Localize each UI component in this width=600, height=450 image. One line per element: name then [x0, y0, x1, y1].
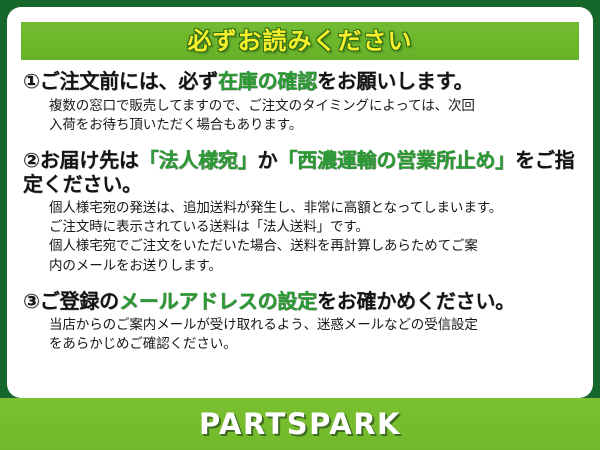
notice-heading-text: ご注文前には、必ず [40, 69, 218, 93]
notice-body-line: ご注文時に表示されている送料は「法人送料」です。 [49, 218, 577, 237]
notice-heading-text: か [258, 148, 278, 172]
notice-item-marker: ① [23, 69, 40, 93]
notice-item: ③ご登録のメールアドレスの設定をお確かめください。当店からのご案内メールが受け取… [23, 290, 577, 355]
notice-body-line: 内のメールをお送りします。 [49, 257, 577, 276]
page-title: 必ずお読みください [188, 29, 413, 53]
header-banner: 必ずお読みください [21, 22, 579, 60]
notice-item-list: ①ご注文前には、必ず在庫の確認をお願いします。複数の窓口で販売してますので、ご注… [21, 70, 579, 355]
notice-body-line: 入荷をお待ち頂いただく場合もあります。 [49, 116, 577, 135]
notice-item: ①ご注文前には、必ず在庫の確認をお願いします。複数の窓口で販売してますので、ご注… [23, 70, 577, 135]
notice-item: ②お届け先は「法人様宛」か「西濃運輸の営業所止め」をご指定ください。個人様宅宛の… [23, 149, 577, 276]
notice-highlight-text: 「法人様宛」 [139, 148, 258, 172]
notice-heading-text: をお願いします。 [317, 69, 473, 93]
notice-heading-text: お届け先は [40, 148, 139, 172]
notice-item-heading: ③ご登録のメールアドレスの設定をお確かめください。 [23, 290, 577, 314]
notice-heading-text: をお確かめください。 [317, 289, 515, 313]
notice-item-body: 複数の窓口で販売してますので、ご注文のタイミングによっては、次回入荷をお待ち頂い… [49, 97, 577, 135]
notice-item-body: 個人様宅宛の発送は、追加送料が発生し、非常に高額となってしまいます。ご注文時に表… [49, 199, 577, 276]
notice-heading-text: ご登録の [40, 289, 119, 313]
notice-body-line: 個人様宅宛の発送は、追加送料が発生し、非常に高額となってしまいます。 [49, 199, 577, 218]
footer-bar: PARTSPARK [0, 398, 600, 450]
notice-card: 必ずお読みください ①ご注文前には、必ず在庫の確認をお願いします。複数の窓口で販… [7, 7, 593, 398]
notice-item-heading: ①ご注文前には、必ず在庫の確認をお願いします。 [23, 70, 577, 94]
notice-item-marker: ③ [23, 289, 40, 313]
notice-body-line: をあらかじめご確認ください。 [49, 335, 577, 354]
notice-highlight-text: 「西濃運輸の営業所止め」 [277, 148, 515, 172]
notice-highlight-text: メールアドレスの設定 [119, 289, 317, 313]
notice-body-line: 複数の窓口で販売してますので、ご注文のタイミングによっては、次回 [49, 97, 577, 116]
notice-frame: 必ずお読みください ①ご注文前には、必ず在庫の確認をお願いします。複数の窓口で販… [0, 0, 600, 450]
notice-body-line: 個人様宅宛でご注文をいただいた場合、送料を再計算しあらためてご案 [49, 237, 577, 256]
notice-item-marker: ② [23, 148, 40, 172]
notice-highlight-text: 在庫の確認 [218, 69, 317, 93]
notice-item-heading: ②お届け先は「法人様宛」か「西濃運輸の営業所止め」をご指定ください。 [23, 149, 577, 196]
notice-item-body: 当店からのご案内メールが受け取れるよう、迷惑メールなどの受信設定をあらかじめご確… [49, 316, 577, 354]
notice-body-line: 当店からのご案内メールが受け取れるよう、迷惑メールなどの受信設定 [49, 316, 577, 335]
brand-logo-partspark: PARTSPARK [199, 410, 401, 439]
